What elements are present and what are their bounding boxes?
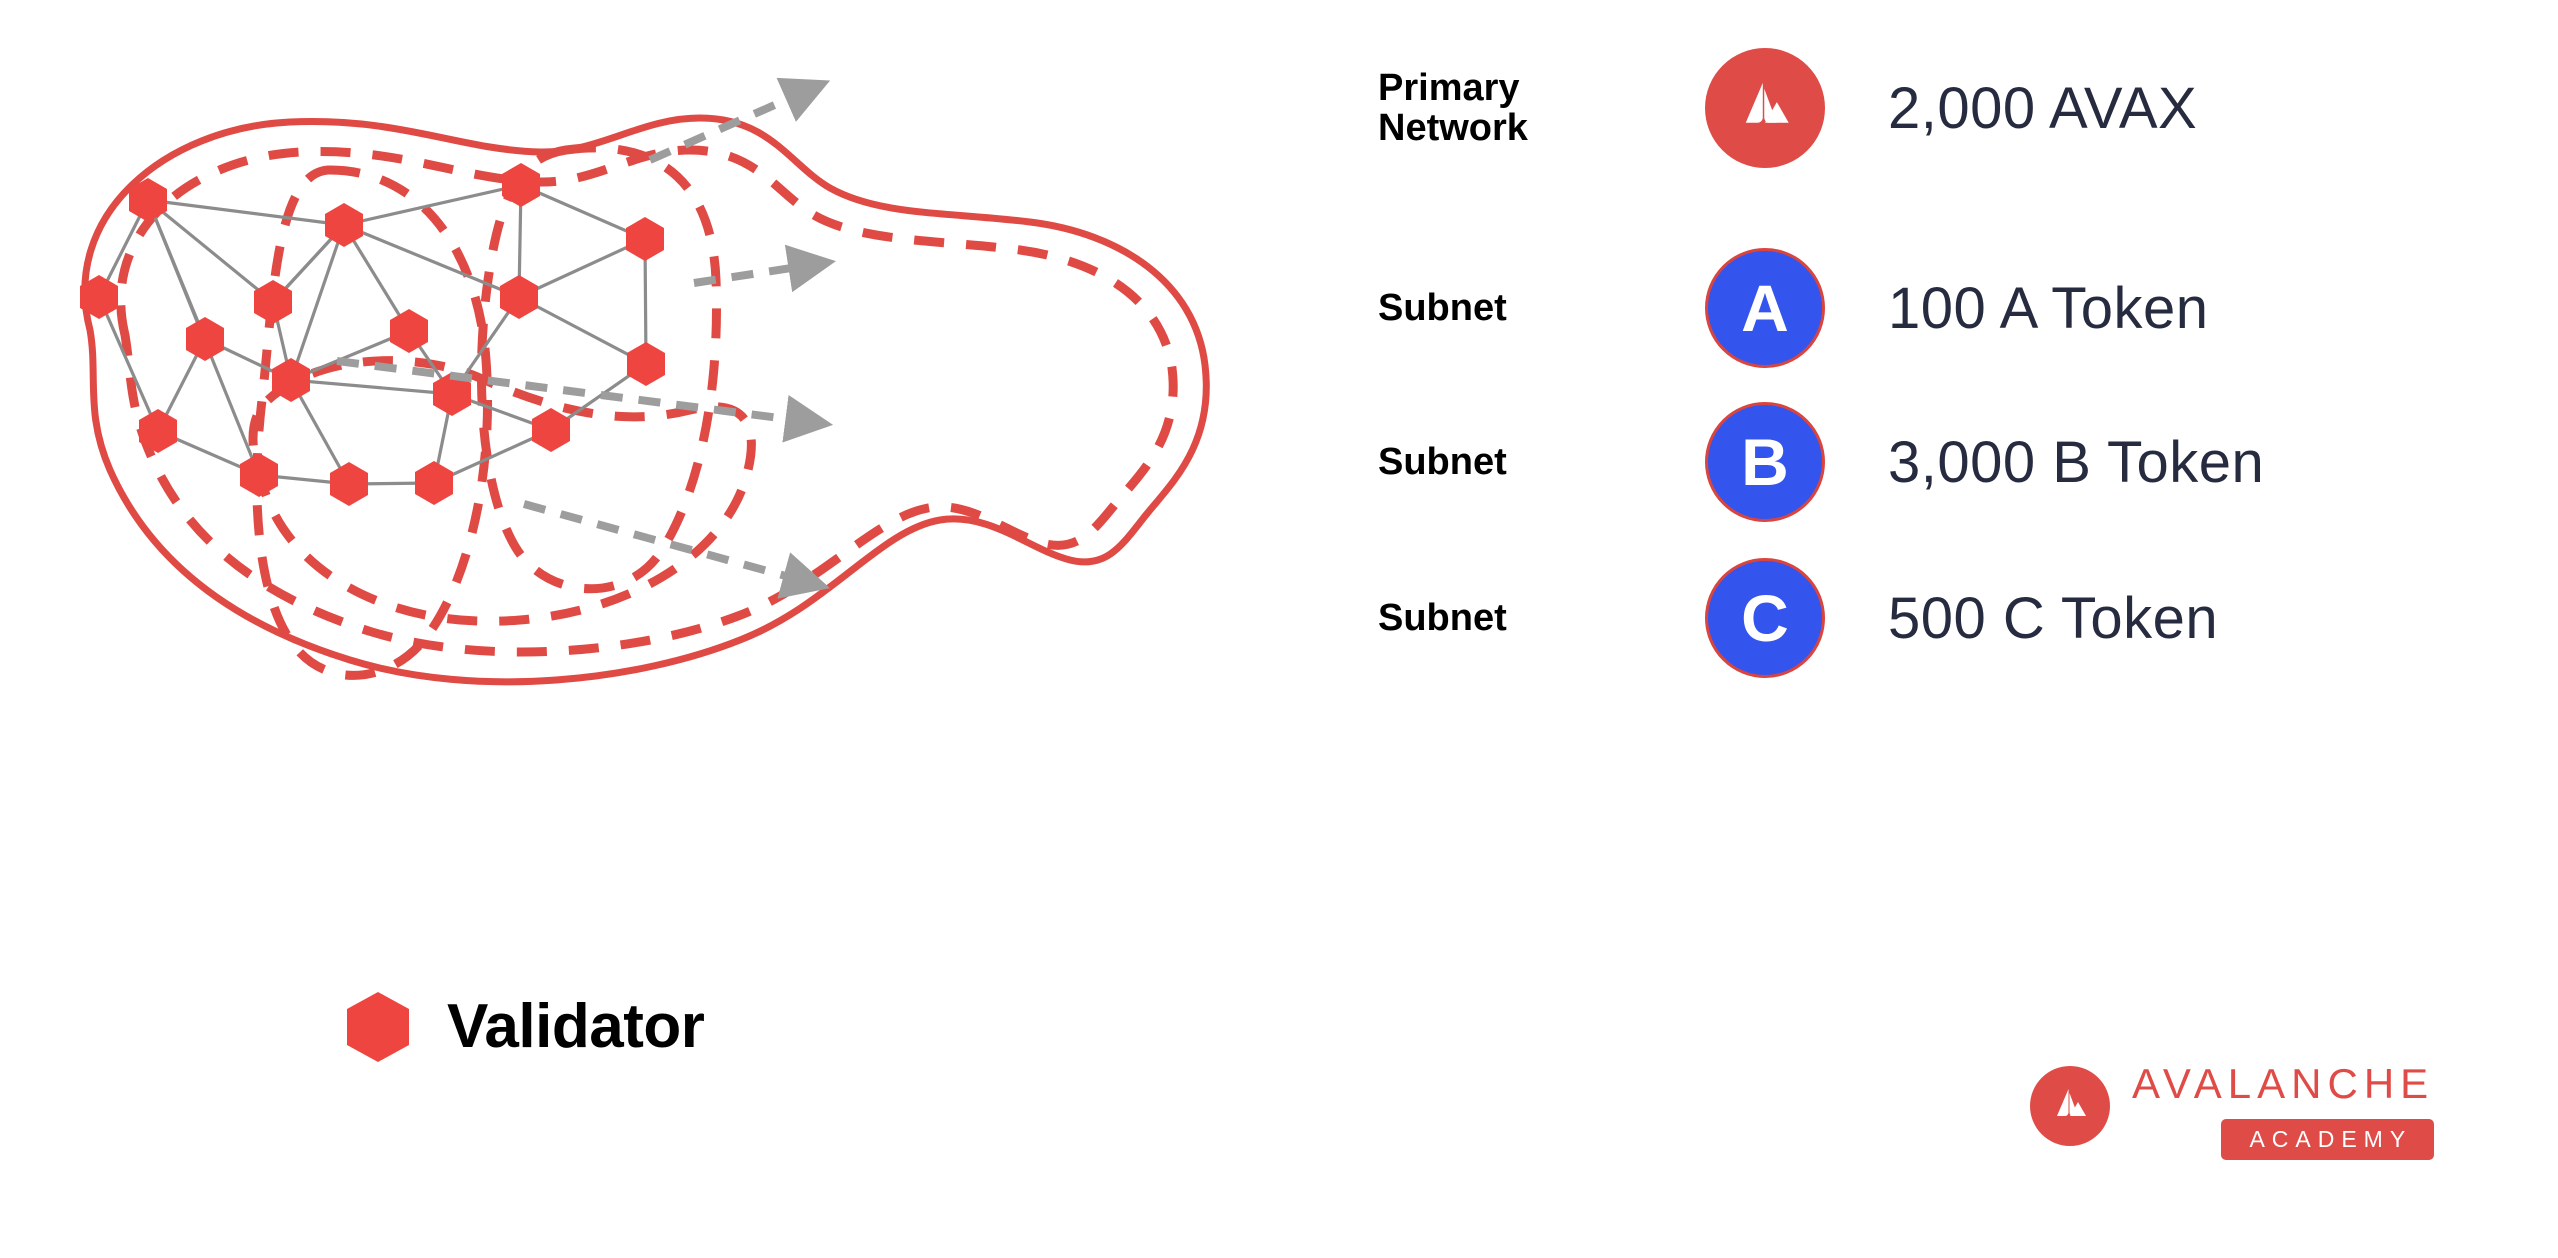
callout-list: Primary Network 2,000 AVAX Subnet A bbox=[1370, 0, 2558, 1000]
validator-node bbox=[532, 408, 570, 452]
callout-amount-subnet-a: 100 A Token bbox=[1870, 275, 2558, 342]
callout-row-subnet-b[interactable]: Subnet B 3,000 B Token bbox=[1370, 372, 2558, 552]
callout-label-line2: Network bbox=[1378, 108, 1660, 148]
callout-badge-subnet-b: B bbox=[1660, 402, 1870, 522]
callout-row-primary-network[interactable]: Primary Network 2,000 AVAX bbox=[1370, 18, 2558, 198]
legend-label: Validator bbox=[447, 996, 704, 1058]
avax-logo-icon bbox=[1705, 48, 1825, 168]
callout-badge-subnet-a: A bbox=[1660, 248, 1870, 368]
brand-name: AVALANCHE bbox=[2132, 1058, 2434, 1111]
callout-amount-subnet-c: 500 C Token bbox=[1870, 585, 2558, 652]
callout-label-subnet-a: Subnet bbox=[1370, 288, 1660, 328]
brand-wordmark: AVALANCHE ACADEMY bbox=[2132, 1058, 2434, 1160]
callout-amount-subnet-b: 3,000 B Token bbox=[1870, 429, 2558, 496]
arrow-primary-network bbox=[650, 96, 795, 160]
arrow-subnet-a bbox=[694, 267, 798, 283]
avalanche-logo-icon bbox=[2030, 1066, 2110, 1146]
network-diagram bbox=[0, 0, 1400, 1060]
callout-label-subnet-b: Subnet bbox=[1370, 442, 1660, 482]
diagram-canvas: Validator Primary Network 2,000 AVAX bbox=[0, 0, 2558, 1258]
hexagon-icon bbox=[345, 990, 411, 1064]
callout-badge-subnet-c: C bbox=[1660, 558, 1870, 678]
validator-node bbox=[627, 342, 665, 386]
validator-node bbox=[415, 461, 453, 505]
callout-label-line1: Primary bbox=[1378, 68, 1660, 108]
validator-node bbox=[390, 309, 428, 353]
callout-row-subnet-a[interactable]: Subnet A 100 A Token bbox=[1370, 218, 2558, 398]
callout-label-subnet-c: Subnet bbox=[1370, 598, 1660, 638]
callout-badge-primary-network bbox=[1660, 48, 1870, 168]
subnet-c-outline bbox=[253, 361, 751, 622]
legend: Validator bbox=[345, 990, 704, 1064]
validator-node bbox=[626, 217, 664, 261]
arrow-subnet-c bbox=[524, 504, 793, 578]
validator-node bbox=[500, 275, 538, 319]
validator-node bbox=[330, 462, 368, 506]
validator-node bbox=[502, 163, 540, 207]
brand-subname: ACADEMY bbox=[2221, 1119, 2434, 1160]
callout-row-subnet-c[interactable]: Subnet C 500 C Token bbox=[1370, 528, 2558, 708]
callout-label-primary-network: Primary Network bbox=[1370, 68, 1660, 149]
subnet-a-badge: A bbox=[1705, 248, 1825, 368]
validator-node bbox=[240, 453, 278, 497]
avalanche-academy-logo: AVALANCHE ACADEMY bbox=[2030, 1058, 2434, 1160]
subnet-b-badge: B bbox=[1705, 402, 1825, 522]
callout-amount-primary-network: 2,000 AVAX bbox=[1870, 75, 2558, 142]
validator-node bbox=[186, 317, 224, 361]
subnet-c-badge: C bbox=[1705, 558, 1825, 678]
